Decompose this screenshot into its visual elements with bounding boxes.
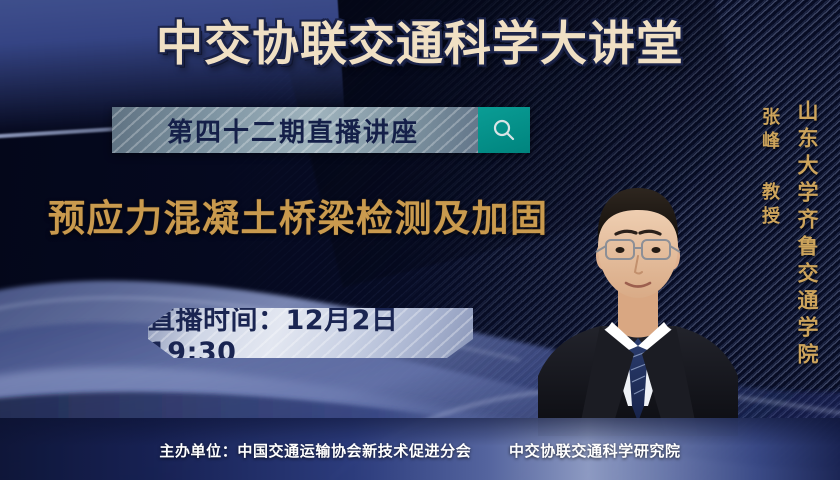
- session-bar: 第四十二期直播讲座: [112, 107, 530, 153]
- session-label-block: 第四十二期直播讲座: [112, 107, 478, 153]
- search-button[interactable]: [478, 107, 530, 153]
- session-label: 第四十二期直播讲座: [167, 112, 423, 149]
- livestream-poster: 中交协联交通科学大讲堂 第四十二期直播讲座 预应力混凝土桥梁检测及加固 直播时间…: [0, 0, 840, 480]
- footer-organizer-primary: 主办单位：中国交通运输协会新技术促进分会: [159, 442, 471, 460]
- speaker-name-title: 张峰 教授: [756, 107, 782, 230]
- footer-organizer-secondary: 中交协联交通科学研究院: [509, 442, 681, 460]
- livestream-time-text: 直播时间：12月2日19:30: [148, 308, 473, 358]
- livestream-time-badge: 直播时间：12月2日19:30: [148, 308, 473, 358]
- search-icon: [491, 117, 517, 143]
- speaker-portrait: [538, 106, 738, 436]
- speaker-affiliation: 山东大学齐鲁交通学院: [792, 100, 822, 370]
- footer-organizers: 主办单位：中国交通运输协会新技术促进分会 中交协联交通科学研究院: [0, 440, 840, 461]
- lecture-headline: 预应力混凝土桥梁检测及加固: [48, 188, 549, 242]
- page-title: 中交协联交通科学大讲堂: [0, 14, 840, 76]
